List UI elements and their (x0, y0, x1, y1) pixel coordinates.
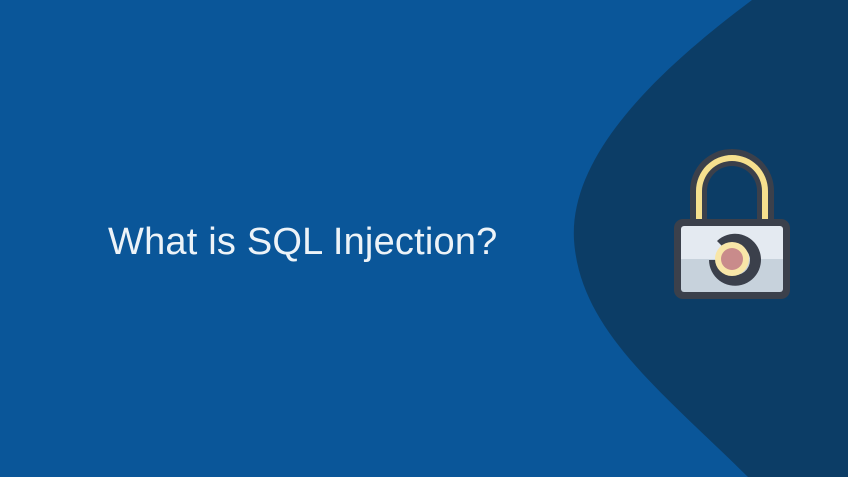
keyhole-center (721, 248, 743, 270)
page-title: What is SQL Injection? (108, 216, 628, 268)
padlock-icon (657, 145, 807, 310)
slide-canvas: What is SQL Injection? (0, 0, 848, 477)
